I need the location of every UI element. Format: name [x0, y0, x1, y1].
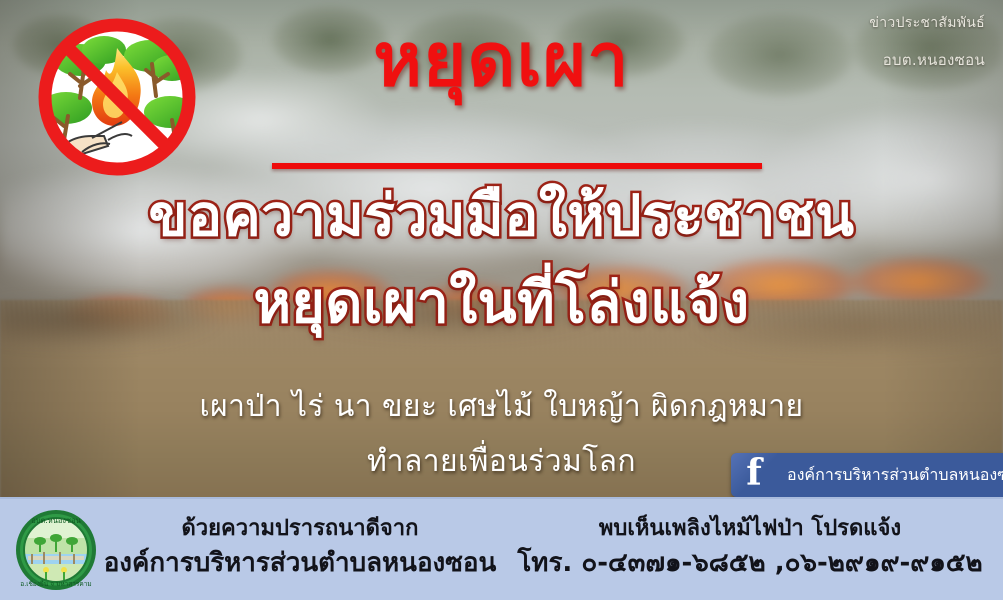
- report-fire-instruction: พบเห็นเพลิงไหม้ไฟป่า โปรดแจ้ง: [510, 513, 990, 545]
- footer-bar: อบต.หนองซอน อ.เชียงยืน จ.มหาสารคาม ด้วยค…: [0, 497, 1003, 600]
- footer-right-block: พบเห็นเพลิงไหม้ไฟป่า โปรดแจ้ง โทร. ๐-๔๓๗…: [510, 513, 990, 583]
- seal-bottom-text: อ.เชียงยืน จ.มหาสารคาม: [20, 580, 91, 588]
- facebook-icon: f: [731, 453, 777, 497]
- contact-phone-numbers: โทร. ๐-๔๓๗๑-๖๘๕๒ ,๐๖-๒๙๑๙-๙๑๕๒: [510, 545, 990, 583]
- slogan-line-2: หยุดเผาในที่โล่งแจ้ง: [0, 273, 1003, 335]
- municipal-seal-icon: อบต.หนองซอน อ.เชียงยืน จ.มหาสารคาม: [14, 508, 98, 592]
- facebook-page-badge[interactable]: f องค์การบริหารส่วนตำบลหนองซอน: [731, 453, 1003, 497]
- footer-goodwill-text: ด้วยความปรารถนาดีจาก: [100, 513, 500, 545]
- slogan-line-1: ขอความร่วมมือให้ประชาชน: [0, 186, 1003, 248]
- seal-top-text: อบต.หนองซอน: [31, 516, 80, 525]
- facebook-page-name: องค์การบริหารส่วนตำบลหนองซอน: [777, 463, 1003, 488]
- poster-canvas: ข่าวประชาสัมพันธ์ อบต.หนองซอน: [0, 0, 1003, 600]
- footer-left-block: ด้วยความปรารถนาดีจาก องค์การบริหารส่วนตำ…: [100, 513, 500, 583]
- page-title: หยุดเผา: [0, 22, 1003, 100]
- title-divider: [272, 163, 762, 169]
- legal-warning-text: เผาป่า ไร่ นา ขยะ เศษไม้ ใบหญ้า ผิดกฎหมา…: [0, 383, 1003, 430]
- footer-organization-name: องค์การบริหารส่วนตำบลหนองซอน: [100, 545, 500, 583]
